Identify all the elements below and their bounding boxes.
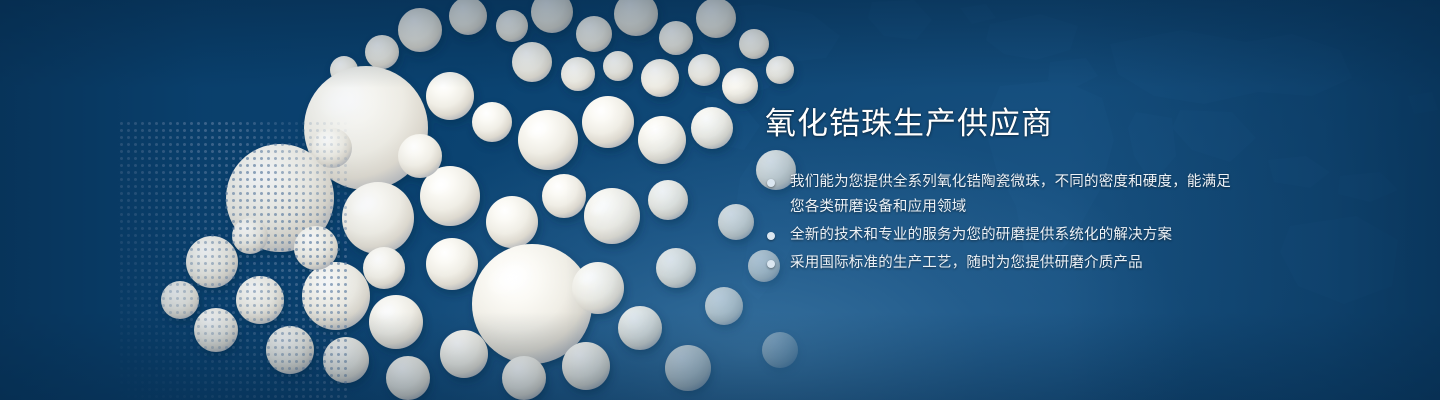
banner-copy: 氧化锆珠生产供应商 我们能为您提供全系列氧化锆陶瓷微珠，不同的密度和硬度，能满足…: [765, 104, 1235, 279]
bullet-item-3-text: 采用国际标准的生产工艺，随时为您提供研磨介质产品: [790, 251, 1235, 276]
hero-banner: 氧化锆珠生产供应商 我们能为您提供全系列氧化锆陶瓷微珠，不同的密度和硬度，能满足…: [0, 0, 1440, 400]
bullet-item-3: 采用国际标准的生产工艺，随时为您提供研磨介质产品: [765, 251, 1235, 276]
banner-bullet-list: 我们能为您提供全系列氧化锆陶瓷微珠，不同的密度和硬度，能满足您各类研磨设备和应用…: [765, 170, 1235, 276]
bullet-dot-icon: [767, 232, 775, 240]
bullet-item-2: 全新的技术和专业的服务为您的研磨提供系统化的解决方案: [765, 223, 1235, 248]
banner-headline: 氧化锆珠生产供应商: [765, 104, 1235, 144]
bullet-item-1-text: 我们能为您提供全系列氧化锆陶瓷微珠，不同的密度和硬度，能满足您各类研磨设备和应用…: [790, 170, 1235, 220]
bullet-dot-icon: [767, 260, 775, 268]
bullet-item-2-text: 全新的技术和专业的服务为您的研磨提供系统化的解决方案: [790, 223, 1235, 248]
bullet-dot-icon: [767, 179, 775, 187]
bullet-item-1: 我们能为您提供全系列氧化锆陶瓷微珠，不同的密度和硬度，能满足您各类研磨设备和应用…: [765, 170, 1235, 220]
